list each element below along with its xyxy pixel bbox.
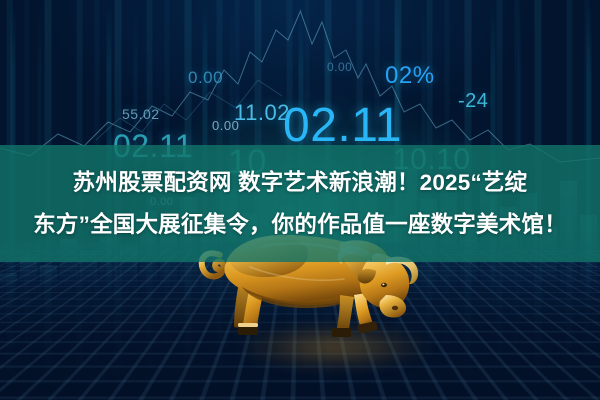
price-number: 55.02 — [122, 106, 160, 122]
price-number: 0.00 — [188, 68, 223, 88]
price-number: 11.02 — [234, 100, 290, 126]
headline-line-1: 苏州股票配资网 数字艺术新浪潮！2025“艺绽 — [73, 163, 528, 203]
price-number: -24 — [458, 90, 488, 113]
price-number: 0.00 — [327, 60, 352, 74]
headline-line-2: 东方”全国大展征集令，你的作品值一座数字美术馆！ — [33, 205, 567, 245]
price-number: 0.00 — [212, 118, 239, 133]
headline-band: 苏州股票配资网 数字艺术新浪潮！2025“艺绽 东方”全国大展征集令，你的作品值… — [0, 145, 600, 262]
promo-banner-image: 0.000.0002%55.0211.020.00-2402.1102.1110… — [0, 0, 600, 400]
price-number: 02% — [385, 62, 435, 90]
